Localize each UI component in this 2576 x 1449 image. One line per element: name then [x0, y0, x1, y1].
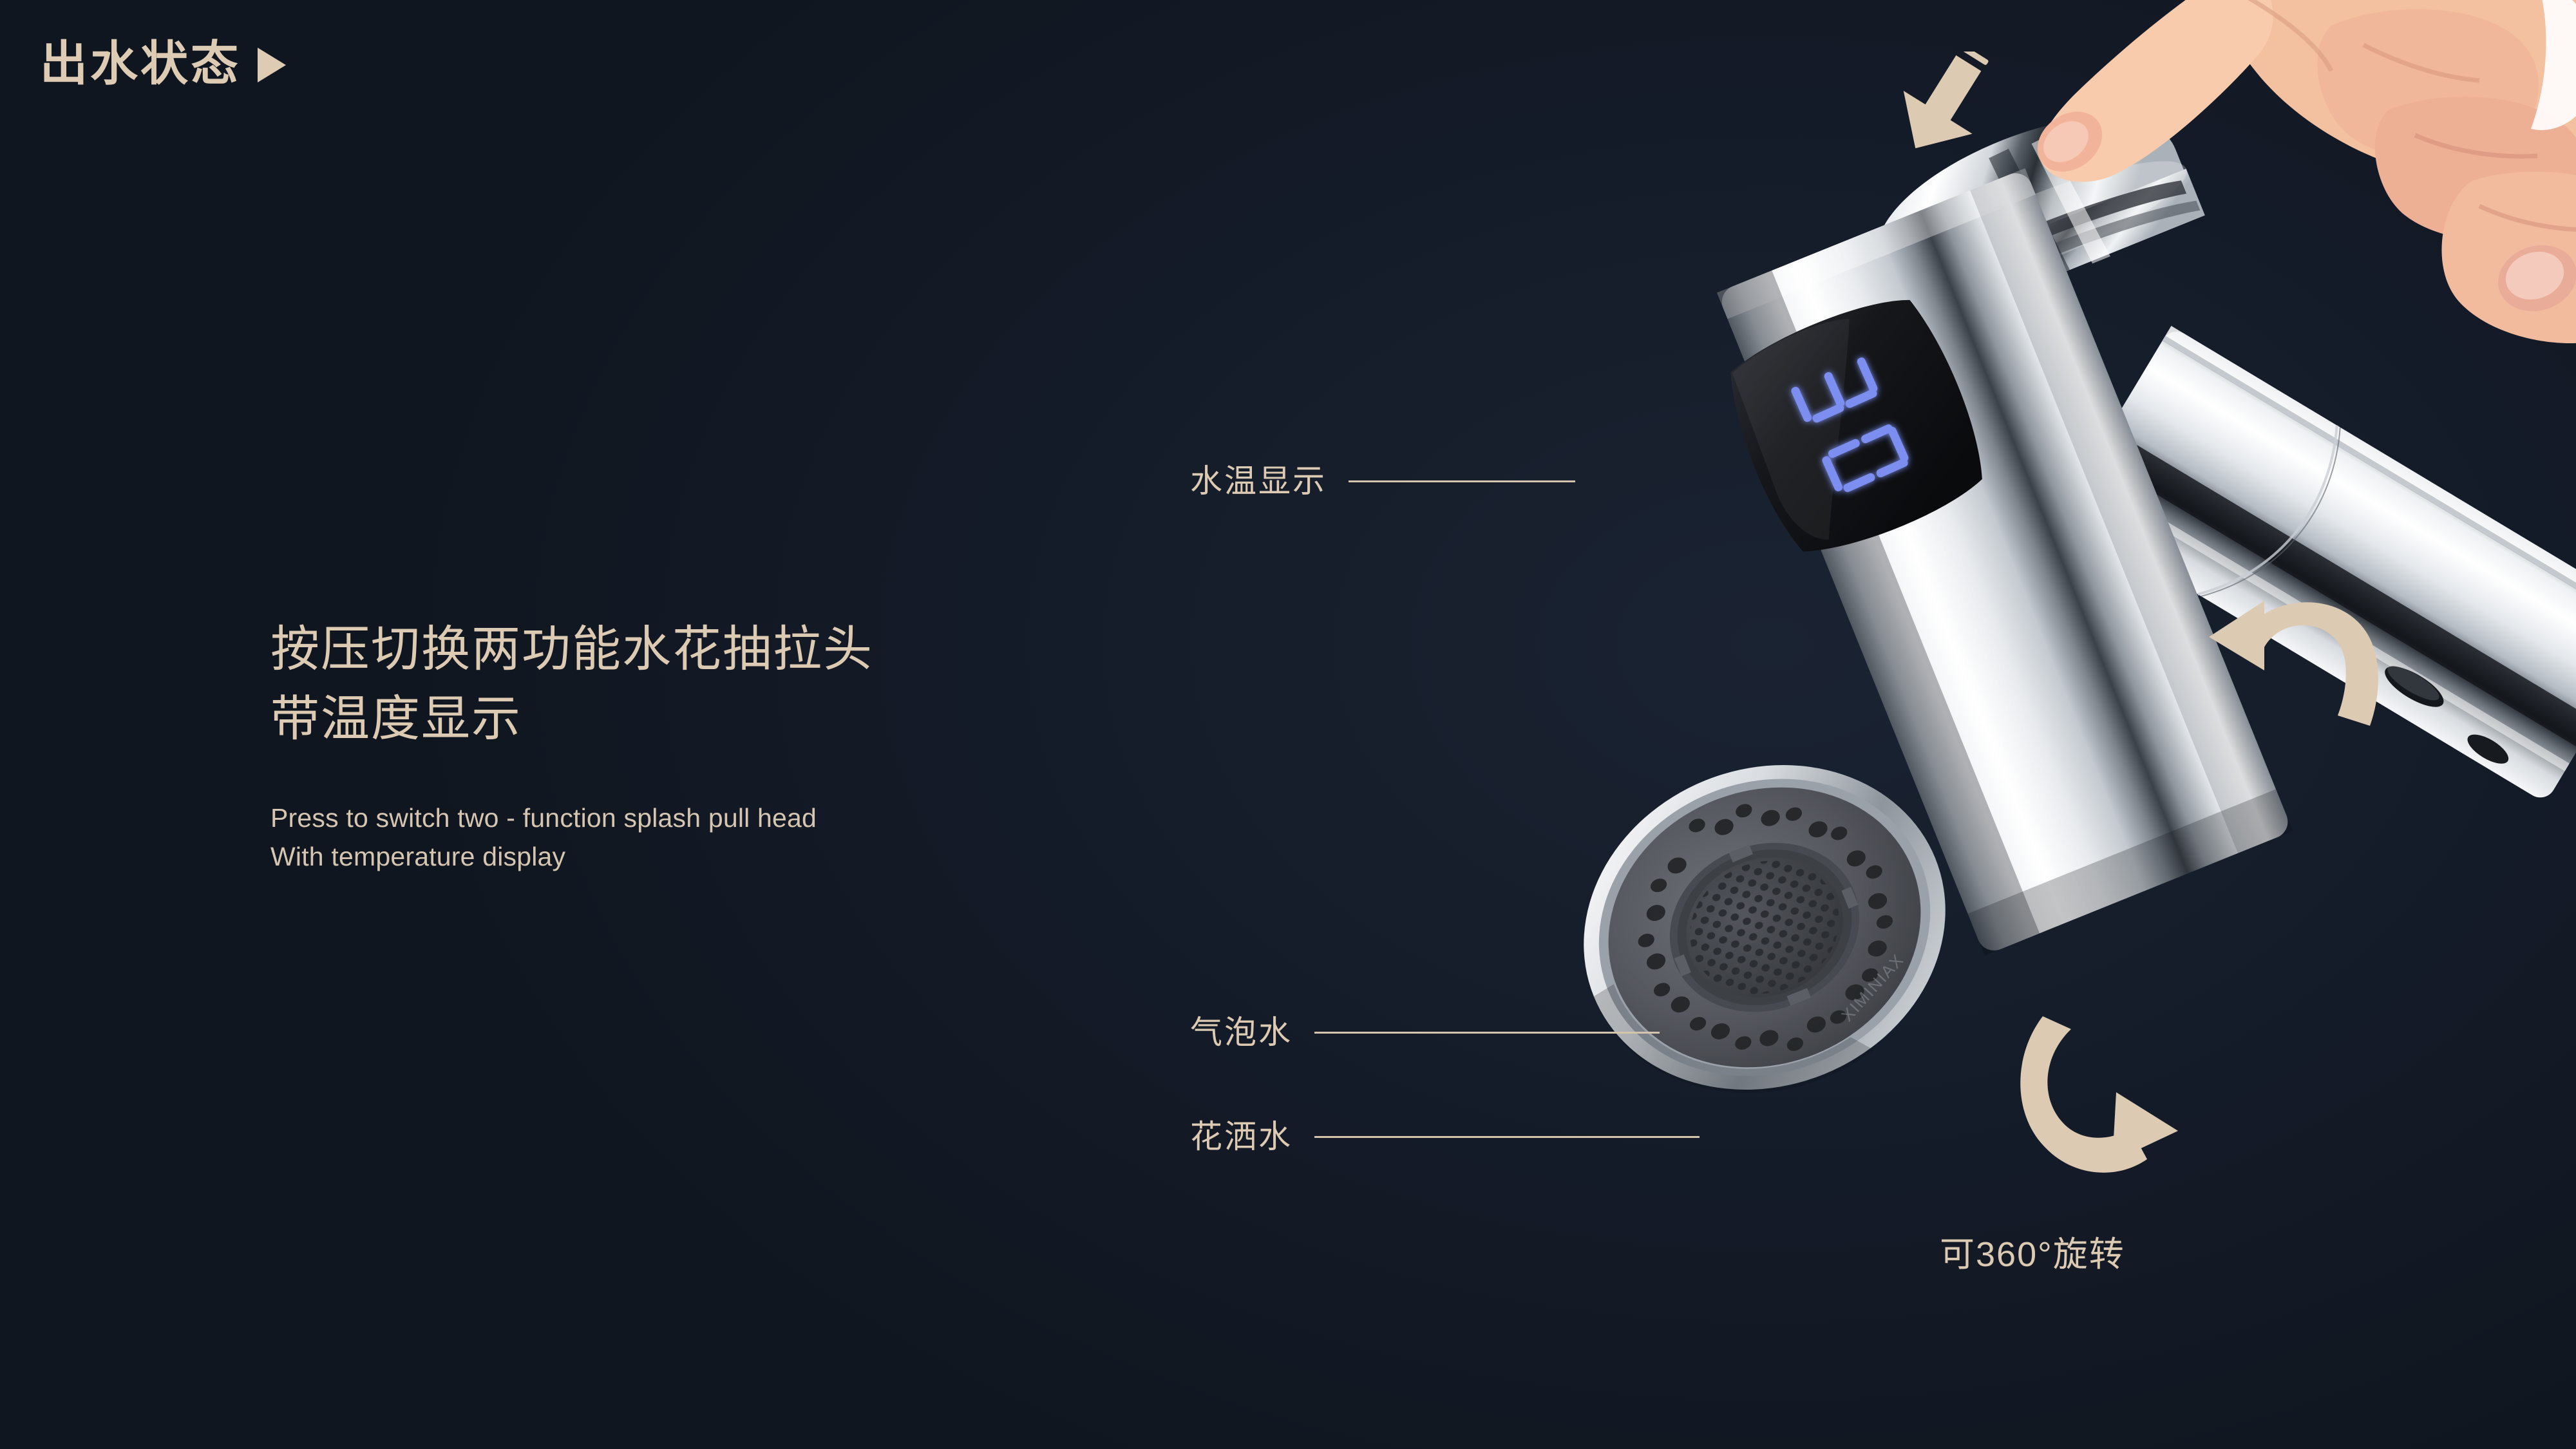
callout-shower-water: 花洒水	[1190, 1121, 1700, 1153]
rotate-cw-arrow-icon	[2009, 1005, 2222, 1198]
subheadline-en-line-1: Press to switch two - function splash pu…	[270, 799, 1172, 838]
subheadline-en-line-2: With temperature display	[270, 838, 1172, 876]
page-title: 出水状态	[40, 40, 241, 88]
headline-cn-line-2: 带温度显示	[270, 685, 1172, 754]
product-feature-slide: XIMINIAX	[0, 0, 2576, 1449]
headline-cn-line-1: 按压切换两功能水花抽拉头	[270, 615, 1172, 685]
feature-copy-block: 按压切换两功能水花抽拉头 带温度显示 Press to switch two -…	[270, 615, 1172, 876]
subheadline-en-block: Press to switch two - function splash pu…	[270, 799, 1172, 876]
page-header: 出水状态	[40, 40, 286, 88]
leader-line	[1349, 480, 1575, 482]
rotate-360-caption: 可360°旋转	[1940, 1226, 2125, 1276]
rotate-ccw-arrow-icon	[2209, 583, 2402, 750]
callout-temperature-display: 水温显示	[1190, 465, 1575, 497]
callout-label-temperature: 水温显示	[1190, 465, 1327, 497]
callout-label-aerated-water: 气泡水	[1190, 1016, 1293, 1048]
press-down-arrow-icon	[1887, 52, 1996, 161]
callout-aerated-water: 气泡水	[1190, 1016, 1660, 1048]
callout-label-shower-water: 花洒水	[1190, 1121, 1293, 1153]
leader-line	[1314, 1032, 1660, 1034]
leader-line	[1314, 1136, 1700, 1138]
play-triangle-icon	[258, 48, 286, 82]
